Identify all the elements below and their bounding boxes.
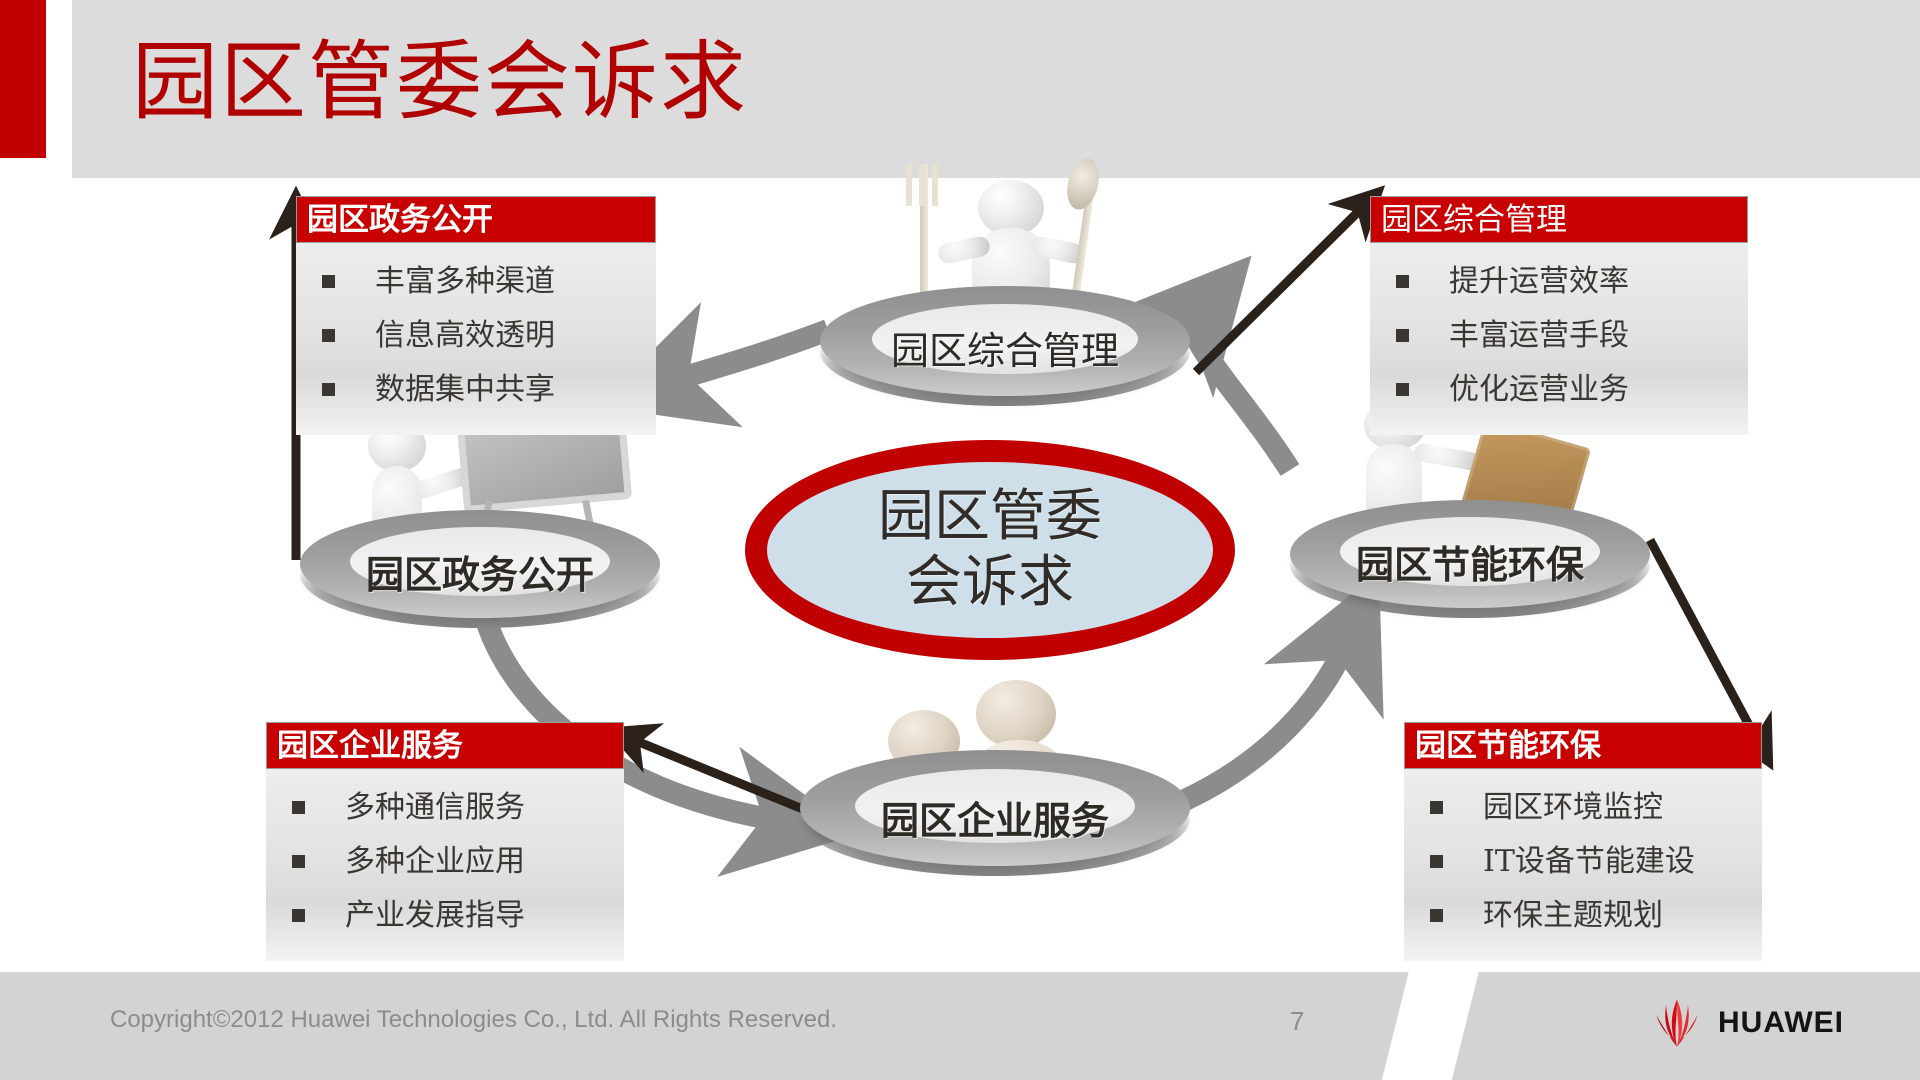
list-item: 优化运营业务 — [1378, 363, 1740, 417]
info-box-top-right-header: 园区综合管理 — [1370, 196, 1748, 243]
center-callout-oval: 园区管委 会诉求 — [745, 440, 1235, 660]
copyright-text: Copyright©2012 Huawei Technologies Co., … — [110, 1006, 837, 1034]
slide-canvas: 园区管委会诉求 — [0, 0, 1920, 1080]
info-box-bottom-left-header: 园区企业服务 — [266, 722, 624, 769]
huawei-flower-icon — [1648, 994, 1706, 1052]
list-item-label: 丰富运营手段 — [1449, 309, 1629, 363]
list-item: 提升运营效率 — [1378, 255, 1740, 309]
ring-platform-right: 园区节能环保 — [1290, 500, 1650, 608]
list-item: 信息高效透明 — [304, 309, 648, 363]
info-box-top-left-list: 丰富多种渠道 信息高效透明 数据集中共享 — [304, 255, 648, 417]
info-box-top-left-body: 丰富多种渠道 信息高效透明 数据集中共享 — [296, 243, 656, 435]
ring-platform-bottom: 园区企业服务 — [800, 750, 1190, 866]
list-item: 多种企业应用 — [274, 835, 616, 889]
square-bullet-icon — [292, 909, 305, 922]
cycle-arrow-right-to-top — [1193, 318, 1290, 470]
list-item: IT设备节能建设 — [1412, 835, 1754, 889]
list-item: 数据集中共享 — [304, 363, 648, 417]
list-item-label: 信息高效透明 — [375, 309, 555, 363]
square-bullet-icon — [292, 801, 305, 814]
list-item: 环保主题规划 — [1412, 889, 1754, 943]
info-box-top-right-list: 提升运营效率 丰富运营手段 优化运营业务 — [1378, 255, 1740, 417]
page-number: 7 — [1290, 1006, 1304, 1037]
ring-label-right: 园区节能环保 — [1290, 534, 1650, 589]
square-bullet-icon — [1396, 275, 1409, 288]
huawei-logo: HUAWEI — [1648, 994, 1844, 1052]
info-box-top-right-body: 提升运营效率 丰富运营手段 优化运营业务 — [1370, 243, 1748, 435]
list-item: 丰富多种渠道 — [304, 255, 648, 309]
cycle-arrow-top-to-left — [676, 330, 828, 380]
list-item-label: 数据集中共享 — [375, 363, 555, 417]
list-item-label: 丰富多种渠道 — [375, 255, 555, 309]
list-item-label: 多种通信服务 — [345, 781, 525, 835]
ring-platform-left: 园区政务公开 — [300, 510, 660, 618]
list-item-label: 多种企业应用 — [345, 835, 525, 889]
info-box-top-right: 园区综合管理 提升运营效率 丰富运营手段 优化运营业务 — [1370, 196, 1748, 435]
square-bullet-icon — [1396, 329, 1409, 342]
footer-diagonal-divider — [1376, 972, 1483, 1080]
cycle-arrow-bottom-to-right — [1185, 648, 1344, 800]
ring-platform-top: 园区综合管理 — [820, 286, 1190, 396]
callout-arrow-to-top-right-box — [1196, 208, 1362, 372]
callout-arrow-to-bottom-right-box — [1650, 540, 1758, 742]
list-item: 园区环境监控 — [1412, 781, 1754, 835]
list-item: 丰富运营手段 — [1378, 309, 1740, 363]
info-box-top-left: 园区政务公开 丰富多种渠道 信息高效透明 数据集中共享 — [296, 196, 656, 435]
square-bullet-icon — [1430, 855, 1443, 868]
square-bullet-icon — [322, 329, 335, 342]
list-item-label: 产业发展指导 — [345, 889, 525, 943]
ring-label-bottom: 园区企业服务 — [800, 790, 1190, 845]
info-box-bottom-right-list: 园区环境监控 IT设备节能建设 环保主题规划 — [1412, 781, 1754, 943]
square-bullet-icon — [1430, 909, 1443, 922]
square-bullet-icon — [322, 383, 335, 396]
list-item: 产业发展指导 — [274, 889, 616, 943]
ring-label-left: 园区政务公开 — [300, 544, 660, 599]
square-bullet-icon — [1430, 801, 1443, 814]
square-bullet-icon — [322, 275, 335, 288]
info-box-bottom-right-body: 园区环境监控 IT设备节能建设 环保主题规划 — [1404, 769, 1762, 961]
callout-arrow-to-bottom-left-box — [634, 740, 810, 812]
list-item-label: 园区环境监控 — [1483, 781, 1663, 835]
info-box-bottom-left: 园区企业服务 多种通信服务 多种企业应用 产业发展指导 — [266, 722, 624, 961]
center-line-2: 会诉求 — [906, 550, 1074, 616]
list-item-label: IT设备节能建设 — [1483, 835, 1695, 889]
info-box-bottom-left-body: 多种通信服务 多种企业应用 产业发展指导 — [266, 769, 624, 961]
header-red-accent-bar — [0, 0, 46, 158]
ring-label-top: 园区综合管理 — [820, 320, 1190, 375]
list-item-label: 环保主题规划 — [1483, 889, 1663, 943]
info-box-bottom-right: 园区节能环保 园区环境监控 IT设备节能建设 环保主题规划 — [1404, 722, 1762, 961]
list-item: 多种通信服务 — [274, 781, 616, 835]
center-line-1: 园区管委 — [878, 484, 1102, 550]
slide-header: 园区管委会诉求 — [0, 0, 1920, 178]
page-title: 园区管委会诉求 — [132, 22, 748, 142]
square-bullet-icon — [292, 855, 305, 868]
square-bullet-icon — [1396, 383, 1409, 396]
slide-footer: Copyright©2012 Huawei Technologies Co., … — [0, 972, 1920, 1080]
list-item-label: 提升运营效率 — [1449, 255, 1629, 309]
huawei-wordmark: HUAWEI — [1718, 1006, 1844, 1040]
info-box-bottom-right-header: 园区节能环保 — [1404, 722, 1762, 769]
info-box-bottom-left-list: 多种通信服务 多种企业应用 产业发展指导 — [274, 781, 616, 943]
list-item-label: 优化运营业务 — [1449, 363, 1629, 417]
info-box-top-left-header: 园区政务公开 — [296, 196, 656, 243]
